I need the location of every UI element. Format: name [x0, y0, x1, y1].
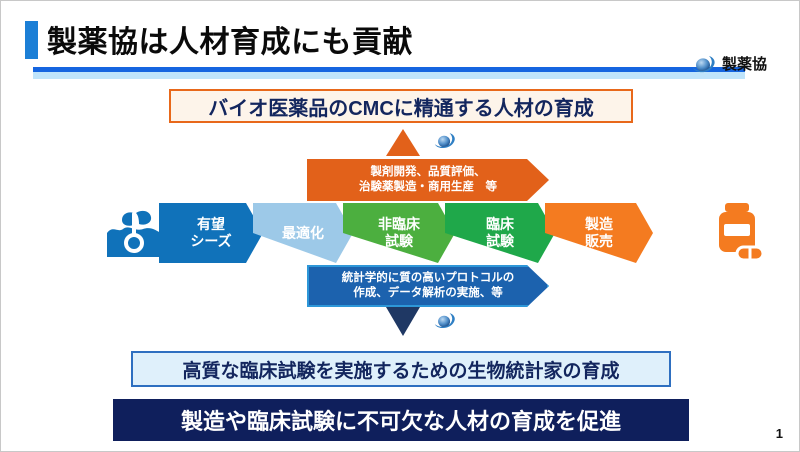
callout-biostatistics-scope-line2: 作成、データ解析の実施、等 — [353, 286, 503, 301]
flow-step-3-line2: 試験 — [385, 233, 413, 250]
flow-step-5-line2: 販売 — [585, 233, 613, 250]
page-title: 製薬協は人材育成にも貢献 — [47, 17, 413, 61]
header-rule-soft — [33, 72, 745, 79]
flow-step-1-line1: 有望 — [197, 216, 225, 233]
title-accent-bar — [25, 21, 38, 59]
flow-step-5: 製造 販売 — [545, 203, 653, 263]
flow-step-5-line1: 製造 — [585, 216, 613, 233]
callout-cmc-scope-line2: 治験薬製造・商用生産 等 — [359, 180, 497, 195]
globe-swoosh-icon — [691, 54, 717, 74]
medicine-bottle-icon — [709, 201, 767, 263]
flow-step-1-line2: シーズ — [190, 233, 231, 250]
banner-biostatistician-talent: 高質な臨床試験を実施するための生物統計家の育成 — [131, 351, 671, 387]
callout-biostatistics-scope-line1: 統計学的に質の高いプロトコルの — [342, 271, 515, 286]
callout-biostatistics-scope: 統計学的に質の高いプロトコルの 作成、データ解析の実施、等 — [307, 265, 549, 307]
brand-logo-text: 製薬協 — [722, 53, 767, 74]
process-flow: 有望 シーズ 最適化 非臨床 試験 臨床 試験 製造 販売 — [105, 199, 665, 267]
slide: 製薬協は人材育成にも貢献 製薬協 バイオ医薬品のCMCに精通する人材の育成 — [0, 0, 800, 452]
brand-logo: 製薬協 — [691, 53, 767, 74]
page-number: 1 — [776, 426, 783, 441]
banner-cmc-talent: バイオ医薬品のCMCに精通する人材の育成 — [169, 89, 633, 123]
flow-step-4: 臨床 試験 — [445, 203, 555, 263]
banner-conclusion-text: 製造や臨床試験に不可欠な人材の育成を促進 — [181, 404, 621, 436]
arrow-up-icon — [386, 129, 420, 156]
callout-cmc-scope: 製剤開発、品質評価、 治験薬製造・商用生産 等 — [307, 159, 549, 201]
banner-biostatistician-talent-text: 高質な臨床試験を実施するための生物統計家の育成 — [182, 356, 619, 383]
globe-mark-upper-icon — [433, 131, 457, 155]
flow-step-3: 非臨床 試験 — [343, 203, 455, 263]
arrow-down-icon — [386, 307, 420, 336]
flow-step-4-line1: 臨床 — [486, 216, 514, 233]
flow-step-1: 有望 シーズ — [159, 203, 263, 263]
flow-step-2-line1: 最適化 — [282, 225, 324, 242]
banner-cmc-talent-text: バイオ医薬品のCMCに精通する人材の育成 — [208, 92, 594, 121]
globe-mark-lower-icon — [433, 311, 457, 335]
flow-step-3-line1: 非臨床 — [378, 216, 420, 233]
banner-conclusion: 製造や臨床試験に不可欠な人材の育成を促進 — [113, 399, 689, 441]
flow-step-4-line2: 試験 — [486, 233, 514, 250]
flow-step-2: 最適化 — [253, 203, 353, 263]
seedling-icon — [105, 205, 163, 261]
callout-cmc-scope-line1: 製剤開発、品質評価、 — [371, 165, 486, 180]
